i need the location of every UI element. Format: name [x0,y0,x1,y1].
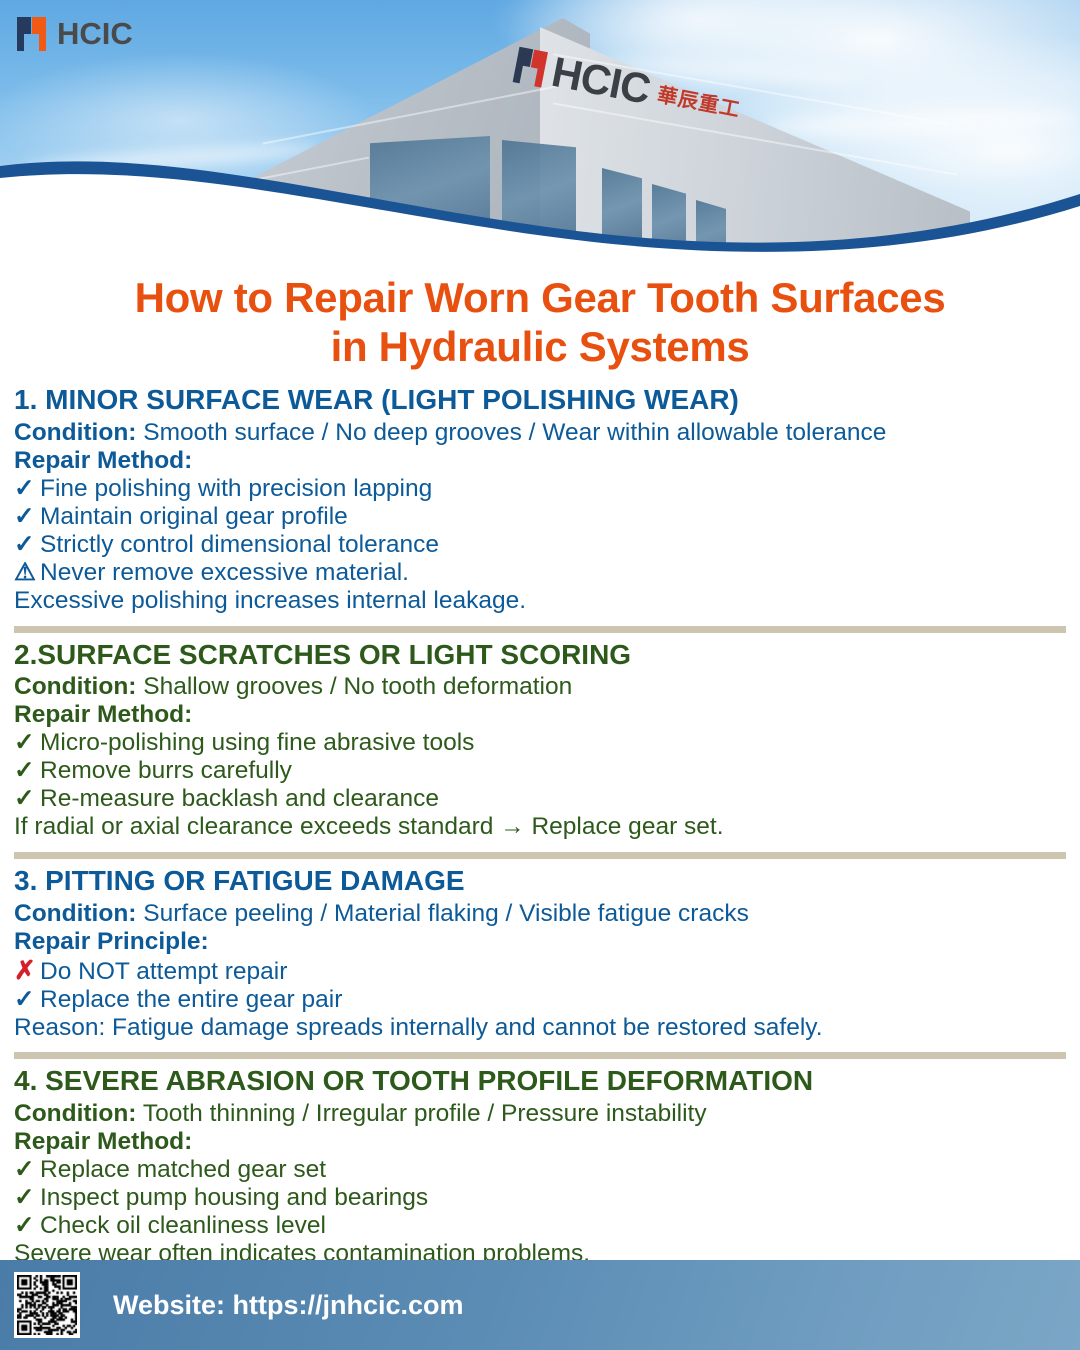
section-3-condition-value: Surface peeling / Material flaking / Vis… [143,900,749,927]
check-icon: ✓ [14,785,40,813]
hcic-logo-mark-icon [16,14,49,54]
check-icon: ✓ [14,1156,40,1184]
check-icon: ✓ [14,1212,40,1240]
section-1-item: ✓Maintain original gear profile [14,503,1066,531]
section-1-heading: 1. MINOR SURFACE WEAR (LIGHT POLISHING W… [14,385,1066,416]
section-4-item: ✓Replace matched gear set [14,1156,1066,1184]
section-1-note: Excessive polishing increases internal l… [14,587,1066,615]
section-2-note: If radial or axial clearance exceeds sta… [14,813,1066,841]
section-3-item: ✗Do NOT attempt repair [14,956,1066,986]
section-4-item-text: Replace matched gear set [40,1156,326,1183]
section-divider [14,626,1066,633]
section-4-item-text: Check oil cleanliness level [40,1212,326,1239]
section-3-item-text: Replace the entire gear pair [40,986,342,1013]
section-1-method-label: Repair Method: [14,447,1066,475]
section-1-method-label-text: Repair Method: [14,447,192,474]
section-3-condition: Condition: Surface peeling / Material fl… [14,900,1066,928]
section-4-condition: Condition: Tooth thinning / Irregular pr… [14,1100,1066,1128]
section-1-item-text: Maintain original gear profile [40,503,348,530]
section-1-item-text: Fine polishing with precision lapping [40,475,432,502]
section-4-condition-label: Condition: [14,1100,136,1127]
section-1-condition-label: Condition: [14,419,136,446]
section-1-condition-value: Smooth surface / No deep grooves / Wear … [143,419,886,446]
section-3-item-text: Do NOT attempt repair [40,958,287,985]
section-1-item: ✓Strictly control dimensional tolerance [14,531,1066,559]
section-4: 4. SEVERE ABRASION OR TOOTH PROFILE DEFO… [14,1066,1066,1272]
check-icon: ✓ [14,531,40,559]
section-2-heading: 2.SURFACE SCRATCHES OR LIGHT SCORING [14,640,1066,671]
section-3-item: ✓Replace the entire gear pair [14,986,1066,1014]
blue-wave-overlay [0,130,1080,258]
section-1: 1. MINOR SURFACE WEAR (LIGHT POLISHING W… [14,385,1066,619]
section-1-condition: Condition: Smooth surface / No deep groo… [14,419,1066,447]
section-2-condition: Condition: Shallow grooves / No tooth de… [14,673,1066,701]
section-3-heading: 3. PITTING OR FATIGUE DAMAGE [14,866,1066,897]
section-3-condition-label: Condition: [14,900,136,927]
section-1-item: ✓Fine polishing with precision lapping [14,475,1066,503]
hcic-logo-mark-icon [510,42,552,92]
section-4-condition-value: Tooth thinning / Irregular profile / Pre… [143,1100,707,1127]
section-2: 2.SURFACE SCRATCHES OR LIGHT SCORING Con… [14,640,1066,846]
qr-code[interactable] [14,1272,80,1338]
section-2-condition-label: Condition: [14,673,136,700]
section-4-heading: 4. SEVERE ABRASION OR TOOTH PROFILE DEFO… [14,1066,1066,1097]
company-logo-text: HCIC [57,16,133,52]
section-1-item: ⚠Never remove excessive material. [14,559,1066,587]
section-2-method-label-text: Repair Method: [14,701,192,728]
section-2-item: ✓Re-measure backlash and clearance [14,785,1066,813]
section-divider [14,1052,1066,1059]
section-3-method-label-text: Repair Principle: [14,928,209,955]
section-2-method-label: Repair Method: [14,701,1066,729]
section-2-condition-value: Shallow grooves / No tooth deformation [143,673,572,700]
section-2-item-text: Remove burrs carefully [40,757,292,784]
check-icon: ✓ [14,475,40,503]
section-2-item-text: Micro-polishing using fine abrasive tool… [40,729,474,756]
footer-bar: Website: https://jnhcic.com [0,1260,1080,1350]
section-3: 3. PITTING OR FATIGUE DAMAGE Condition: … [14,866,1066,1046]
check-icon: ✓ [14,757,40,785]
check-icon: ✓ [14,1184,40,1212]
building-logo-chinese: 華辰重工 [655,78,743,122]
section-3-note: Reason: Fatigue damage spreads internall… [14,1014,1066,1042]
section-4-item-text: Inspect pump housing and bearings [40,1184,428,1211]
section-1-item-text: Never remove excessive material. [40,559,409,586]
section-4-method-label-text: Repair Method: [14,1128,192,1155]
section-2-item-text: Re-measure backlash and clearance [40,785,439,812]
cross-icon: ✗ [14,956,40,986]
page-title-line-1: How to Repair Worn Gear Tooth Surfaces [40,274,1040,323]
page-title: How to Repair Worn Gear Tooth Surfaces i… [0,274,1080,371]
check-icon: ✓ [14,986,40,1014]
section-4-item: ✓Check oil cleanliness level [14,1212,1066,1240]
header-photo-banner: HCIC 華辰重工 HCIC [0,0,1080,258]
check-icon: ✓ [14,729,40,757]
section-4-method-label: Repair Method: [14,1128,1066,1156]
section-1-item-text: Strictly control dimensional tolerance [40,531,439,558]
content-sections: 1. MINOR SURFACE WEAR (LIGHT POLISHING W… [0,385,1080,1272]
section-3-method-label: Repair Principle: [14,928,1066,956]
section-2-item: ✓Micro-polishing using fine abrasive too… [14,729,1066,757]
warning-icon: ⚠ [14,559,40,587]
company-logo: HCIC [16,14,133,54]
page-title-line-2: in Hydraulic Systems [40,323,1040,372]
section-divider [14,852,1066,859]
section-2-item: ✓Remove burrs carefully [14,757,1066,785]
check-icon: ✓ [14,503,40,531]
section-4-item: ✓Inspect pump housing and bearings [14,1184,1066,1212]
website-text[interactable]: Website: https://jnhcic.com [113,1290,464,1321]
